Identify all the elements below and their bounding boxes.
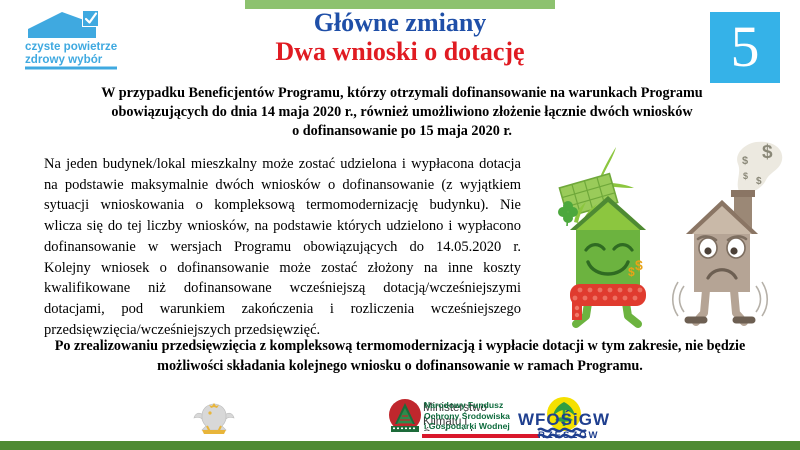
body-paragraph: Na jeden budynek/lokal mieszkalny może z… <box>44 154 521 340</box>
dollar-sign-medium: $ <box>742 155 748 167</box>
czyste-powietrze-logo: czyste powietrze zdrowy wybór <box>22 8 132 70</box>
intro-paragraph: W przypadku Beneficjentów Programu, któr… <box>52 84 752 141</box>
svg-text:$: $ <box>635 257 643 273</box>
body-line: kwalifikowane niż dofinansowane wcześnie… <box>44 278 521 299</box>
nfosigw-line1: Narodowy Fundusz <box>424 400 510 411</box>
page-title-secondary: Dwa wnioski o dotację <box>150 37 650 67</box>
logo-line2: zdrowy wybór <box>25 53 103 66</box>
slide-number-badge: 5 <box>710 12 780 83</box>
houses-illustration: $ $ <box>528 138 800 334</box>
body-line: sytuacji wnioskowania o kompleksową term… <box>44 195 521 216</box>
body-line: dotacjami, pod warunkiem zakończenia i r… <box>44 299 521 320</box>
footer-logos: Ministerstwo Klimatu i Środowiska <box>0 396 800 444</box>
dollar-sign-small: $ <box>743 171 748 181</box>
wfosigw-city: RZESZÓW <box>538 430 600 441</box>
svg-text:$: $ <box>628 265 635 279</box>
body-line: dofinansowanie w wersjach Programu obowi… <box>44 237 521 258</box>
bottom-green-accent-bar <box>0 441 800 450</box>
intro-line: W przypadku Beneficjentów Programu, któr… <box>52 84 752 103</box>
dollar-sign-small: $ <box>756 176 762 187</box>
polish-eagle-emblem <box>190 398 238 440</box>
intro-line: obowiązujących do dnia 14 maja 2020 r., … <box>52 103 752 122</box>
dollar-smoke-icon: $ $ $ $ <box>737 142 782 196</box>
happy-eco-house-icon: $ $ <box>558 147 646 324</box>
red-scarf-icon <box>570 284 646 320</box>
nfosigw-circle-icon <box>388 398 424 438</box>
body-line: na podstawie maksymalnie dwóch wniosków … <box>44 175 521 196</box>
closing-line: Po zrealizowaniu przedsięwzięcia z kompl… <box>26 336 774 356</box>
closing-line: możliwości składania kolejnego wniosku o… <box>26 356 774 376</box>
logo-line1: czyste powietrze <box>25 40 118 53</box>
wfosigw-logo: WFOŚiGW RZESZÓW <box>508 396 658 444</box>
slide-root: czyste powietrze zdrowy wybór Główne zmi… <box>0 0 800 450</box>
wfosigw-acronym: WFOŚiGW <box>518 410 610 430</box>
body-line: Na jeden budynek/lokal mieszkalny może z… <box>44 154 521 175</box>
eco-house-body <box>576 226 640 294</box>
closing-paragraph: Po zrealizowaniu przedsięwzięcia z kompl… <box>26 336 774 376</box>
logo-underline <box>25 67 117 70</box>
sad-old-house-icon: $ $ $ $ <box>673 142 782 322</box>
nfosigw-text: Narodowy Fundusz Ochrony Środowiska i Go… <box>424 400 510 432</box>
nfosigw-line3: i Gospodarki Wodnej <box>424 421 510 432</box>
body-line: Kolejny wniosek o dofinansowanie może zo… <box>44 258 521 279</box>
nfosigw-line2: Ochrony Środowiska <box>424 411 510 422</box>
dollar-sign-large: $ <box>762 142 773 163</box>
body-line: wlicza się do tej liczby wniosków, na po… <box>44 216 521 237</box>
ministry-logo: Ministerstwo Klimatu i Środowiska <box>190 398 350 442</box>
old-house-legs <box>688 290 752 322</box>
page-title-primary: Główne zmiany <box>170 8 630 38</box>
house-check-icon <box>28 10 99 38</box>
